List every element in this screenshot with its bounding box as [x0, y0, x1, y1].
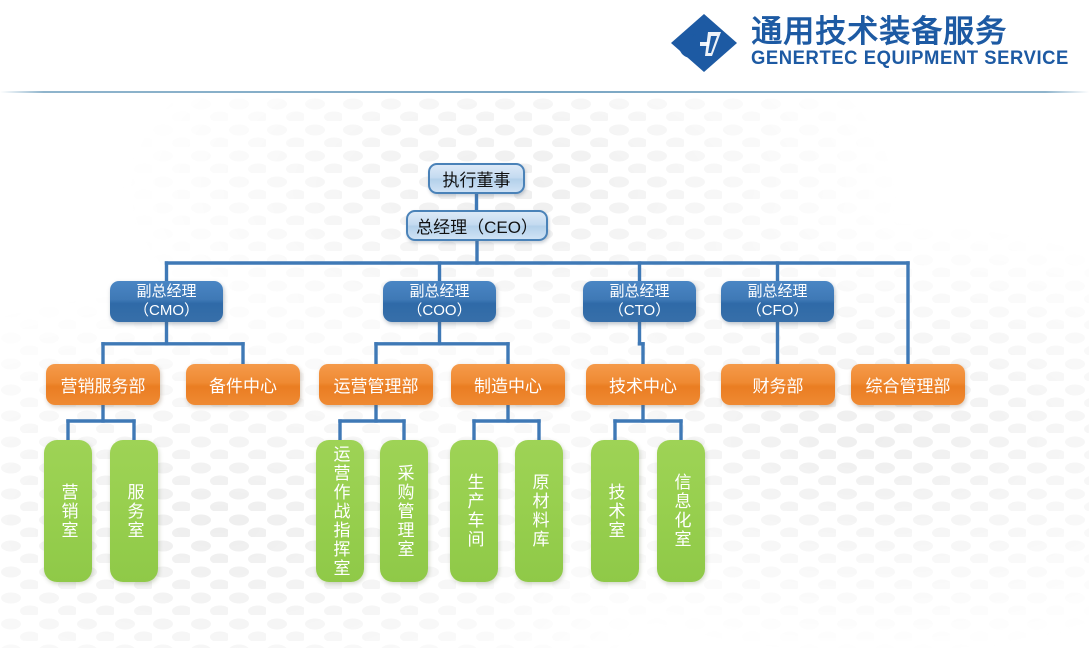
- org-node-label: 总经理（CEO）: [416, 213, 538, 238]
- org-node-executive[interactable]: 执行董事: [428, 163, 525, 194]
- org-node-label: 执行董事: [443, 166, 511, 191]
- org-node-department[interactable]: 备件中心: [186, 364, 300, 405]
- org-node-department[interactable]: 营销服务部: [46, 364, 160, 405]
- org-node-label: 财务部: [753, 372, 804, 397]
- org-node-vice-president[interactable]: 副总经理 （CTO）: [583, 281, 696, 322]
- brand-name-cn: 通用技术装备服务: [751, 16, 1079, 49]
- org-node-department[interactable]: 技术中心: [586, 364, 700, 405]
- brand-name-en: GENERTEC EQUIPMENT SERVICE: [751, 49, 1069, 70]
- org-node-label: 信息化室: [669, 473, 694, 549]
- org-node-vice-president[interactable]: 副总经理 （COO）: [383, 281, 496, 322]
- org-node-label: 副总经理 （CFO）: [747, 283, 809, 321]
- org-node-executive[interactable]: 总经理（CEO）: [406, 210, 548, 241]
- org-node-label: 副总经理 （COO）: [407, 283, 471, 321]
- org-node-team[interactable]: 信息化室: [657, 440, 705, 582]
- org-node-label: 备件中心: [209, 372, 277, 397]
- brand-logo-block: 通用技术装备服务 GENERTEC EQUIPMENT SERVICE: [667, 12, 1079, 74]
- org-node-vice-president[interactable]: 副总经理 （CFO）: [721, 281, 834, 322]
- org-node-team[interactable]: 生产车间: [450, 440, 498, 582]
- org-node-label: 生产车间: [462, 473, 487, 549]
- gt-diamond-logo-icon: [667, 12, 741, 74]
- org-node-label: 营销室: [56, 483, 81, 540]
- org-node-label: 技术中心: [609, 372, 677, 397]
- page-header: 通用技术装备服务 GENERTEC EQUIPMENT SERVICE: [0, 0, 1089, 92]
- org-node-team[interactable]: 采购管理室: [380, 440, 428, 582]
- brand-text: 通用技术装备服务 GENERTEC EQUIPMENT SERVICE: [751, 16, 1079, 69]
- org-node-label: 副总经理 （CTO）: [609, 283, 670, 321]
- org-node-label: 采购管理室: [392, 464, 417, 559]
- org-node-team[interactable]: 原材料库: [515, 440, 563, 582]
- org-chart: 执行董事总经理（CEO）副总经理 （CMO）副总经理 （COO）副总经理 （CT…: [0, 0, 1089, 648]
- org-node-team[interactable]: 技术室: [591, 440, 639, 582]
- org-node-team[interactable]: 运营作战指挥室: [316, 440, 364, 582]
- org-node-team[interactable]: 服务室: [110, 440, 158, 582]
- org-node-department[interactable]: 财务部: [721, 364, 835, 405]
- org-node-department[interactable]: 制造中心: [451, 364, 565, 405]
- org-node-label: 营销服务部: [61, 372, 146, 397]
- header-divider: [0, 91, 1089, 93]
- org-node-label: 服务室: [122, 483, 147, 540]
- org-node-label: 运营作战指挥室: [328, 445, 353, 578]
- org-node-label: 综合管理部: [866, 372, 951, 397]
- org-node-label: 原材料库: [527, 473, 552, 549]
- org-node-label: 制造中心: [474, 372, 542, 397]
- org-node-department[interactable]: 运营管理部: [319, 364, 433, 405]
- org-node-label: 技术室: [603, 483, 628, 540]
- org-node-team[interactable]: 营销室: [44, 440, 92, 582]
- org-node-vice-president[interactable]: 副总经理 （CMO）: [110, 281, 223, 322]
- org-node-department[interactable]: 综合管理部: [851, 364, 965, 405]
- org-node-label: 副总经理 （CMO）: [134, 283, 199, 321]
- org-node-label: 运营管理部: [334, 372, 419, 397]
